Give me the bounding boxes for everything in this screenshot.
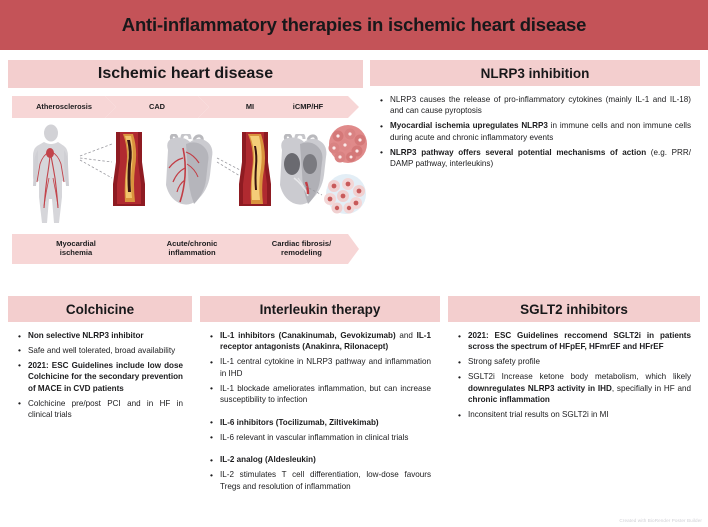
flow-step-myocardial-ischemia: Myocardial ischemia [12,234,140,264]
nlrp3-panel-header: NLRP3 inhibition [370,60,700,86]
bullet-item: IL-1 central cytokine in NLRP3 pathway a… [209,356,431,379]
nlrp3-panel-title: NLRP3 inhibition [481,66,590,81]
flow-step-atherosclerosis: Atherosclerosis [12,96,116,118]
interleukin-bullet-list: IL-1 inhibitors (Canakinumab, Gevokizuma… [209,330,431,492]
bullet-item: Strong safety profile [457,356,691,367]
bullet-item: Non selective NLRP3 inhibitor [17,330,183,341]
colchicine-panel-header: Colchicine [8,296,192,322]
page-banner: Anti-inflammatory therapies in ischemic … [0,0,708,50]
colchicine-panel: Colchicine Non selective NLRP3 inhibitor… [8,296,192,518]
sglt2-panel-body: 2021: ESC Guidelines reccomend SGLT2i in… [448,322,700,430]
bullet-item: IL-2 analog (Aldesleukin) [209,454,431,465]
artery-plaque-cross-section-icon [112,132,146,206]
page-title: Anti-inflammatory therapies in ischemic … [122,14,586,36]
cell-cluster-fibrotic-icon [320,174,372,214]
bullet-item: Inconsitent trial results on SGLT2i in M… [457,409,691,420]
flow-step-cad: CAD [105,96,209,118]
flow-step-acute-chronic-inflammation: Acute/chronic inflammation [128,234,256,264]
bullet-item: IL-1 blockade ameliorates inflammation, … [209,383,431,406]
colchicine-panel-title: Colchicine [66,302,134,317]
bullet-item: NLRP3 causes the release of pro-inflamma… [379,94,691,117]
pointer-lines-1-icon [78,142,114,182]
ihd-panel-title: Ischemic heart disease [98,65,273,83]
interleukin-panel-title: Interleukin therapy [260,302,381,317]
ischemic-heart-disease-panel: Ischemic heart disease Atherosclerosis C… [8,60,363,286]
sglt2-panel-title: SGLT2 inhibitors [520,302,628,317]
interleukin-panel-body: IL-1 inhibitors (Canakinumab, Gevokizuma… [200,322,440,502]
nlrp3-bullet-list: NLRP3 causes the release of pro-inflamma… [379,94,691,170]
cell-cluster-healthy-icon [324,124,372,164]
bullet-item: IL-6 relevant in vascular inflammation i… [209,432,431,443]
ihd-top-flow: Atherosclerosis CAD MI iCMP/HF [12,96,359,118]
interleukin-therapy-panel: Interleukin therapy IL-1 inhibitors (Can… [200,296,440,518]
flow-step-icmp-hf: iCMP/HF [257,96,359,118]
ihd-bottom-flow: Myocardial ischemia Acute/chronic inflam… [12,234,359,264]
colchicine-panel-body: Non selective NLRP3 inhibitorSafe and we… [8,322,192,430]
nlrp3-inhibition-panel: NLRP3 inhibition NLRP3 causes the releas… [370,60,700,150]
human-body-figure-icon [20,122,82,226]
occluded-artery-icon [238,132,272,206]
interleukin-panel-header: Interleukin therapy [200,296,440,322]
bullet-item: IL-2 stimulates T cell differentiation, … [209,469,431,492]
bullet-item: Myocardial ischemia upregulates NLRP3 in… [379,120,691,143]
pointer-lines-3-icon [304,184,324,198]
ihd-illustration-strip [12,120,359,228]
bullet-item: Safe and well tolerated, broad availabil… [17,345,183,356]
ihd-panel-header: Ischemic heart disease [8,60,363,88]
colchicine-bullet-list: Non selective NLRP3 inhibitorSafe and we… [17,330,183,421]
bullet-item: IL-6 inhibitors (Tocilizumab, Ziltivekim… [209,417,431,428]
nlrp3-panel-body: NLRP3 causes the release of pro-inflamma… [370,86,700,179]
heart-coronary-arteries-icon [156,134,218,208]
credit-text: Created with BioRender Poster Builder [619,518,702,523]
sglt2-inhibitors-panel: SGLT2 inhibitors 2021: ESC Guidelines re… [448,296,700,518]
sglt2-panel-header: SGLT2 inhibitors [448,296,700,322]
bullet-item: SGLT2i Increase ketone body metabolism, … [457,371,691,405]
sglt2-bullet-list: 2021: ESC Guidelines reccomend SGLT2i in… [457,330,691,421]
bullet-item: Colchicine pre/post PCI and in HF in cli… [17,398,183,421]
bullet-item: 2021: ESC Guidelines reccomend SGLT2i in… [457,330,691,353]
bullet-item: 2021: ESC Guidelines include low dose Co… [17,360,183,394]
bullet-item: IL-1 inhibitors (Canakinumab, Gevokizuma… [209,330,431,353]
bullet-item: NLRP3 pathway offers several potential m… [379,147,691,170]
flow-step-cardiac-fibrosis-remodeling: Cardiac fibrosis/ remodeling [244,234,359,264]
